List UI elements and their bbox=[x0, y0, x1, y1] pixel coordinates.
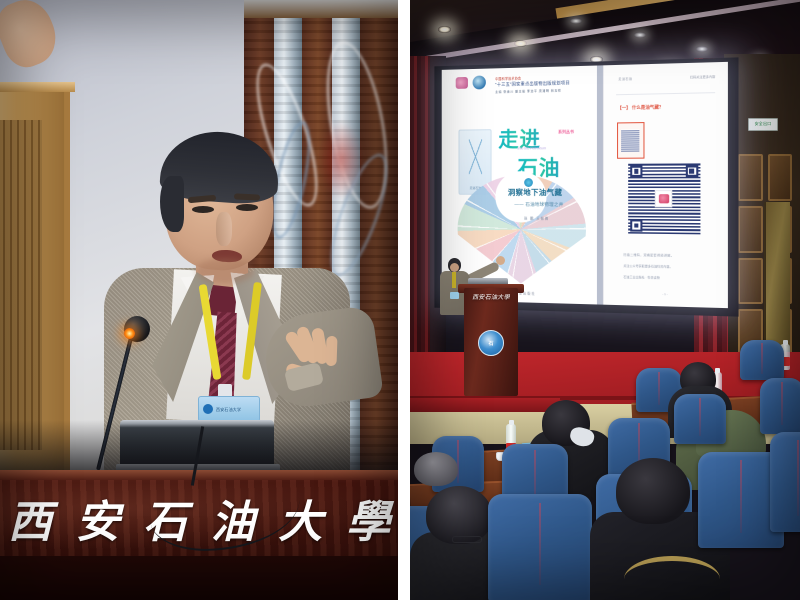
wall-panel bbox=[738, 206, 763, 253]
ceiling-downlight-far bbox=[570, 18, 582, 24]
podium-lower-shadow bbox=[0, 556, 398, 600]
slide-logo-row bbox=[456, 76, 486, 90]
podium-char: 西 bbox=[8, 486, 52, 550]
stage-speaker-lanyard bbox=[452, 272, 456, 288]
audience-head bbox=[414, 452, 458, 486]
wood-frame-ridges bbox=[0, 120, 42, 450]
exit-sign-label: 安全出口 bbox=[755, 122, 772, 126]
qr-page-header-left: 走进石油 bbox=[618, 77, 632, 81]
book-title-badge-text: 系列丛书 bbox=[558, 129, 574, 135]
qr-caption-3: 石油工业出版社 · 科普读物 bbox=[623, 275, 659, 280]
auditorium-seat bbox=[770, 432, 800, 532]
side-door[interactable] bbox=[764, 202, 790, 350]
ceiling-downlight-far bbox=[634, 32, 646, 38]
qr-finder-pattern bbox=[685, 165, 697, 177]
collage-gutter bbox=[398, 0, 410, 600]
cover-thumbnail bbox=[617, 122, 644, 158]
auditorium-seat bbox=[488, 494, 592, 600]
qr-caption-1: 扫描二维码，观看配套视频讲解。 bbox=[623, 253, 674, 258]
stage-podium-university-name: 西安石油大學 bbox=[462, 292, 520, 301]
badge-logo-icon bbox=[203, 404, 213, 414]
slide-qr-page: 走进石油 扫码关注更多内容 【一】 什么是油气藏？ bbox=[603, 62, 728, 308]
qr-center-logo bbox=[655, 190, 672, 207]
book-subtitle-bullet-icon bbox=[524, 178, 533, 187]
qr-caption-2: 关注公众号获取更多石油科普内容。 bbox=[623, 264, 672, 269]
speaker-eyebrow-right bbox=[234, 193, 260, 200]
exit-sign: 安全出口 bbox=[748, 118, 778, 131]
qr-finder-pattern bbox=[630, 220, 642, 232]
stage-speaker-hand bbox=[496, 256, 505, 265]
ceiling-downlight bbox=[514, 40, 527, 47]
slide-book-cover-page: 中国科学技术协会 “十三五”国家重点出版物出版规划项目 主编 张金川 副主编 李… bbox=[442, 65, 603, 304]
slide-header-line-2: “十三五”国家重点出版物出版规划项目 bbox=[495, 80, 589, 88]
qr-page-footer: - 1 - bbox=[662, 293, 668, 297]
speaker-finger bbox=[325, 336, 337, 366]
auditorium-seat bbox=[740, 340, 784, 380]
book-subtitle: 洞察地下油气藏 bbox=[508, 187, 562, 198]
red-reflection-glow bbox=[318, 120, 364, 200]
book-title-english: Into the Petroleum bbox=[518, 146, 546, 151]
podium-char: 安 bbox=[76, 486, 120, 550]
speaker-chin-shadow bbox=[196, 258, 254, 284]
publisher-logo-icon bbox=[473, 76, 486, 90]
qr-finder-pattern bbox=[630, 165, 642, 177]
speaker-closeup-photo: 西安石油大学 西 安 石 油 大 學 bbox=[0, 0, 398, 600]
auditorium-wide-photo: 安全出口 中国科学技术协会 “十三五”国家重点出版物出版规划项目 主编 张金川 … bbox=[410, 0, 800, 600]
audience-head bbox=[616, 458, 690, 524]
name-badge: 西安石油大学 bbox=[198, 396, 260, 422]
slide-header-line-3: 主编 张金川 副主编 李治平 唐湘明 林玉祥 bbox=[495, 88, 589, 94]
wall-panel bbox=[738, 258, 763, 305]
auditorium-seat bbox=[674, 394, 726, 444]
wall-panel bbox=[738, 154, 763, 201]
qr-page-section-title: 【一】 什么是油气藏？ bbox=[617, 105, 663, 112]
qr-code[interactable] bbox=[628, 163, 700, 235]
cover-thumbnail-image bbox=[621, 129, 639, 152]
university-emblem-icon: 石 bbox=[478, 330, 504, 356]
book-authors: 张 鹏 王振卿 bbox=[524, 216, 549, 221]
wall-panel bbox=[768, 154, 793, 201]
slide-header-block: 中国科学技术协会 “十三五”国家重点出版物出版规划项目 主编 张金川 副主编 李… bbox=[495, 74, 589, 94]
jacket-trim-stripe bbox=[624, 556, 720, 600]
auditorium-seat bbox=[760, 378, 800, 434]
qr-page-header-right: 扫码关注更多内容 bbox=[690, 74, 715, 79]
stage-riser bbox=[410, 398, 560, 412]
photo-collage: 西安石油大学 西 安 石 油 大 學 bbox=[0, 0, 800, 600]
association-logo-icon bbox=[456, 77, 468, 89]
qr-page-rule bbox=[616, 92, 715, 95]
qr-center-logo-icon bbox=[659, 194, 669, 204]
speaker-eye-left bbox=[192, 206, 214, 213]
wood-frame-lip bbox=[0, 82, 75, 92]
ceiling-downlight bbox=[438, 26, 451, 33]
left-curtain bbox=[410, 56, 430, 386]
stage-speaker-badge bbox=[450, 292, 459, 299]
badge-text: 西安石油大学 bbox=[216, 407, 241, 412]
speaker-hair-side bbox=[160, 176, 184, 232]
podium-char: 學 bbox=[346, 486, 390, 550]
ceiling-strip bbox=[244, 0, 398, 18]
stage-speaker-face bbox=[450, 263, 459, 272]
speaker-eye-right bbox=[236, 204, 258, 211]
speaker-nose bbox=[216, 212, 232, 246]
eyeglasses bbox=[452, 536, 482, 543]
ceiling-downlight-far bbox=[696, 46, 708, 52]
microphone-led-indicator bbox=[124, 328, 135, 339]
derrick-icon bbox=[468, 139, 482, 174]
book-subtitle-secondary: —— 石油地球物理之井 bbox=[514, 201, 563, 207]
